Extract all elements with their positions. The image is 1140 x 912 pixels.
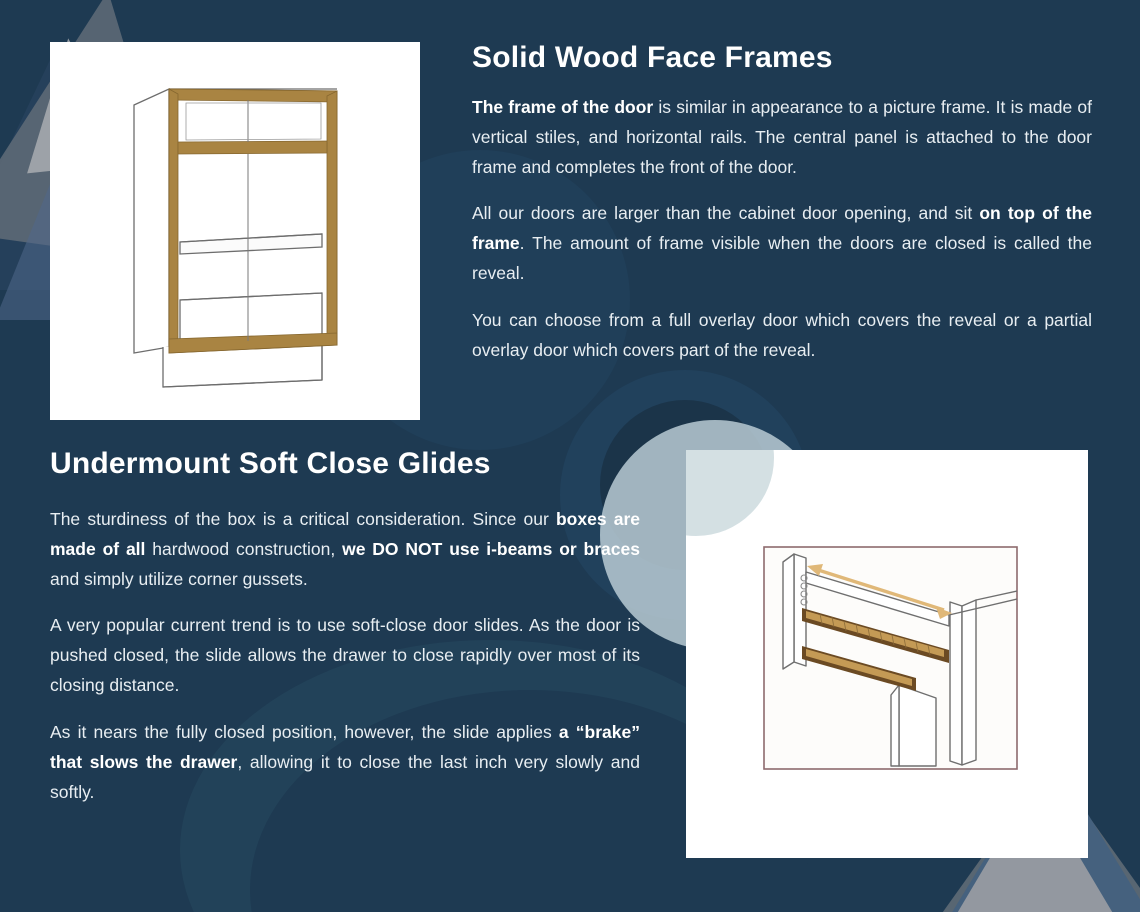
emphasis-text: we DO NOT use i-beams or braces: [342, 539, 640, 559]
body-text: All our doors are larger than the cabine…: [472, 203, 979, 223]
slide-page: Solid Wood Face Frames The frame of the …: [0, 0, 1140, 912]
paragraphs-undermount-soft-close-glides: The sturdiness of the box is a critical …: [50, 504, 640, 807]
body-text: The sturdiness of the box is a critical …: [50, 509, 556, 529]
body-paragraph: The sturdiness of the box is a critical …: [50, 504, 640, 594]
body-text: A very popular current trend is to use s…: [50, 615, 640, 695]
base-cabinet-face-frame-illustration: [50, 42, 420, 420]
body-text: As it nears the fully closed position, h…: [50, 722, 559, 742]
body-paragraph: You can choose from a full overlay door …: [472, 305, 1092, 365]
page-title-undermount-soft-close-glides: Undermount Soft Close Glides: [50, 446, 640, 482]
section-solid-wood-face-frames: Solid Wood Face Frames The frame of the …: [472, 40, 1092, 365]
body-paragraph: All our doors are larger than the cabine…: [472, 198, 1092, 288]
section-undermount-soft-close-glides: Undermount Soft Close Glides The sturdin…: [50, 446, 640, 807]
page-title-solid-wood-face-frames: Solid Wood Face Frames: [472, 40, 1092, 76]
body-paragraph: The frame of the door is similar in appe…: [472, 92, 1092, 182]
body-text: You can choose from a full overlay door …: [472, 310, 1092, 360]
body-paragraph: As it nears the fully closed position, h…: [50, 717, 640, 807]
body-text: . The amount of frame visible when the d…: [472, 233, 1092, 283]
paragraphs-solid-wood-face-frames: The frame of the door is similar in appe…: [472, 92, 1092, 365]
body-paragraph: A very popular current trend is to use s…: [50, 610, 640, 700]
undermount-drawer-glide-illustration: [686, 450, 1088, 858]
body-text: and simply utilize corner gussets.: [50, 569, 308, 589]
emphasis-text: The frame of the door: [472, 97, 653, 117]
body-text: hardwood construction,: [145, 539, 342, 559]
